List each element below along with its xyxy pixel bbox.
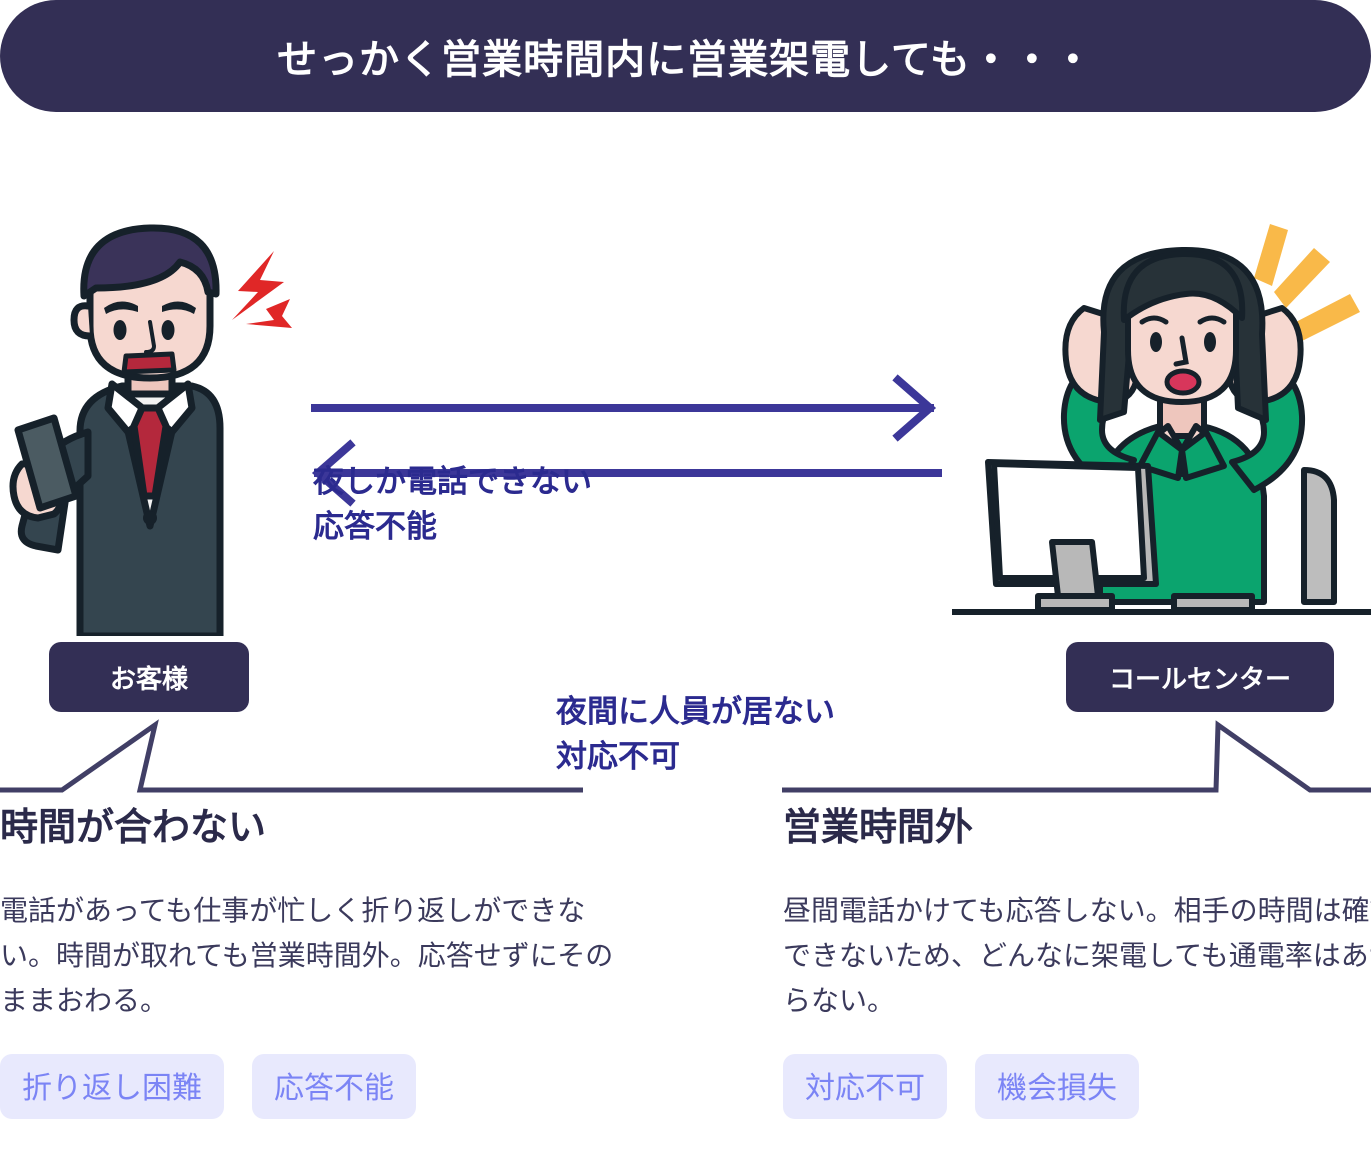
page-title: せっかく営業時間内に営業架電しても・・・: [277, 27, 1094, 85]
column-heading: 時間が合わない: [0, 806, 640, 852]
tag-lost-opportunity: 機会損失: [975, 1054, 1139, 1119]
infographic-canvas: せっかく営業時間内に営業架電しても・・・: [0, 0, 1371, 1161]
interaction-arrows: 夜しか電話できない 応答不能 夜間に人員が居ない 対応不可: [0, 190, 1371, 630]
column-time-mismatch: 時間が合わない 電話があっても仕事が忙しく折り返しができない。時間が取れても営業…: [0, 806, 640, 1119]
column-after-hours: 営業時間外 昼間電話かけても応答しない。相手の時間は確認できないため、どんなに架…: [783, 806, 1371, 1119]
column-tag-list: 対応不可 機会損失: [783, 1054, 1371, 1119]
section-brackets: [0, 700, 1371, 800]
column-body: 昼間電話かけても応答しない。相手の時間は確認できないため、どんなに架電しても通電…: [783, 888, 1371, 1024]
bracket-right: [782, 725, 1371, 790]
tag-callback-difficult: 折り返し困難: [0, 1054, 224, 1119]
column-heading: 営業時間外: [783, 806, 1371, 852]
header-banner: せっかく営業時間内に営業架電しても・・・: [0, 0, 1371, 112]
column-tag-list: 折り返し困難 応答不能: [0, 1054, 640, 1119]
column-body: 電話があっても仕事が忙しく折り返しができない。時間が取れても営業時間外。応答せず…: [0, 888, 615, 1024]
arrow-label-customer-to-center: 夜しか電話できない 応答不能: [313, 460, 592, 550]
tag-cannot-respond: 対応不可: [783, 1054, 947, 1119]
actor-badge-customer-label: お客様: [110, 659, 188, 696]
tag-no-answer: 応答不能: [252, 1054, 416, 1119]
actor-badge-call-center-label: コールセンター: [1109, 659, 1291, 696]
bracket-left: [0, 725, 583, 790]
